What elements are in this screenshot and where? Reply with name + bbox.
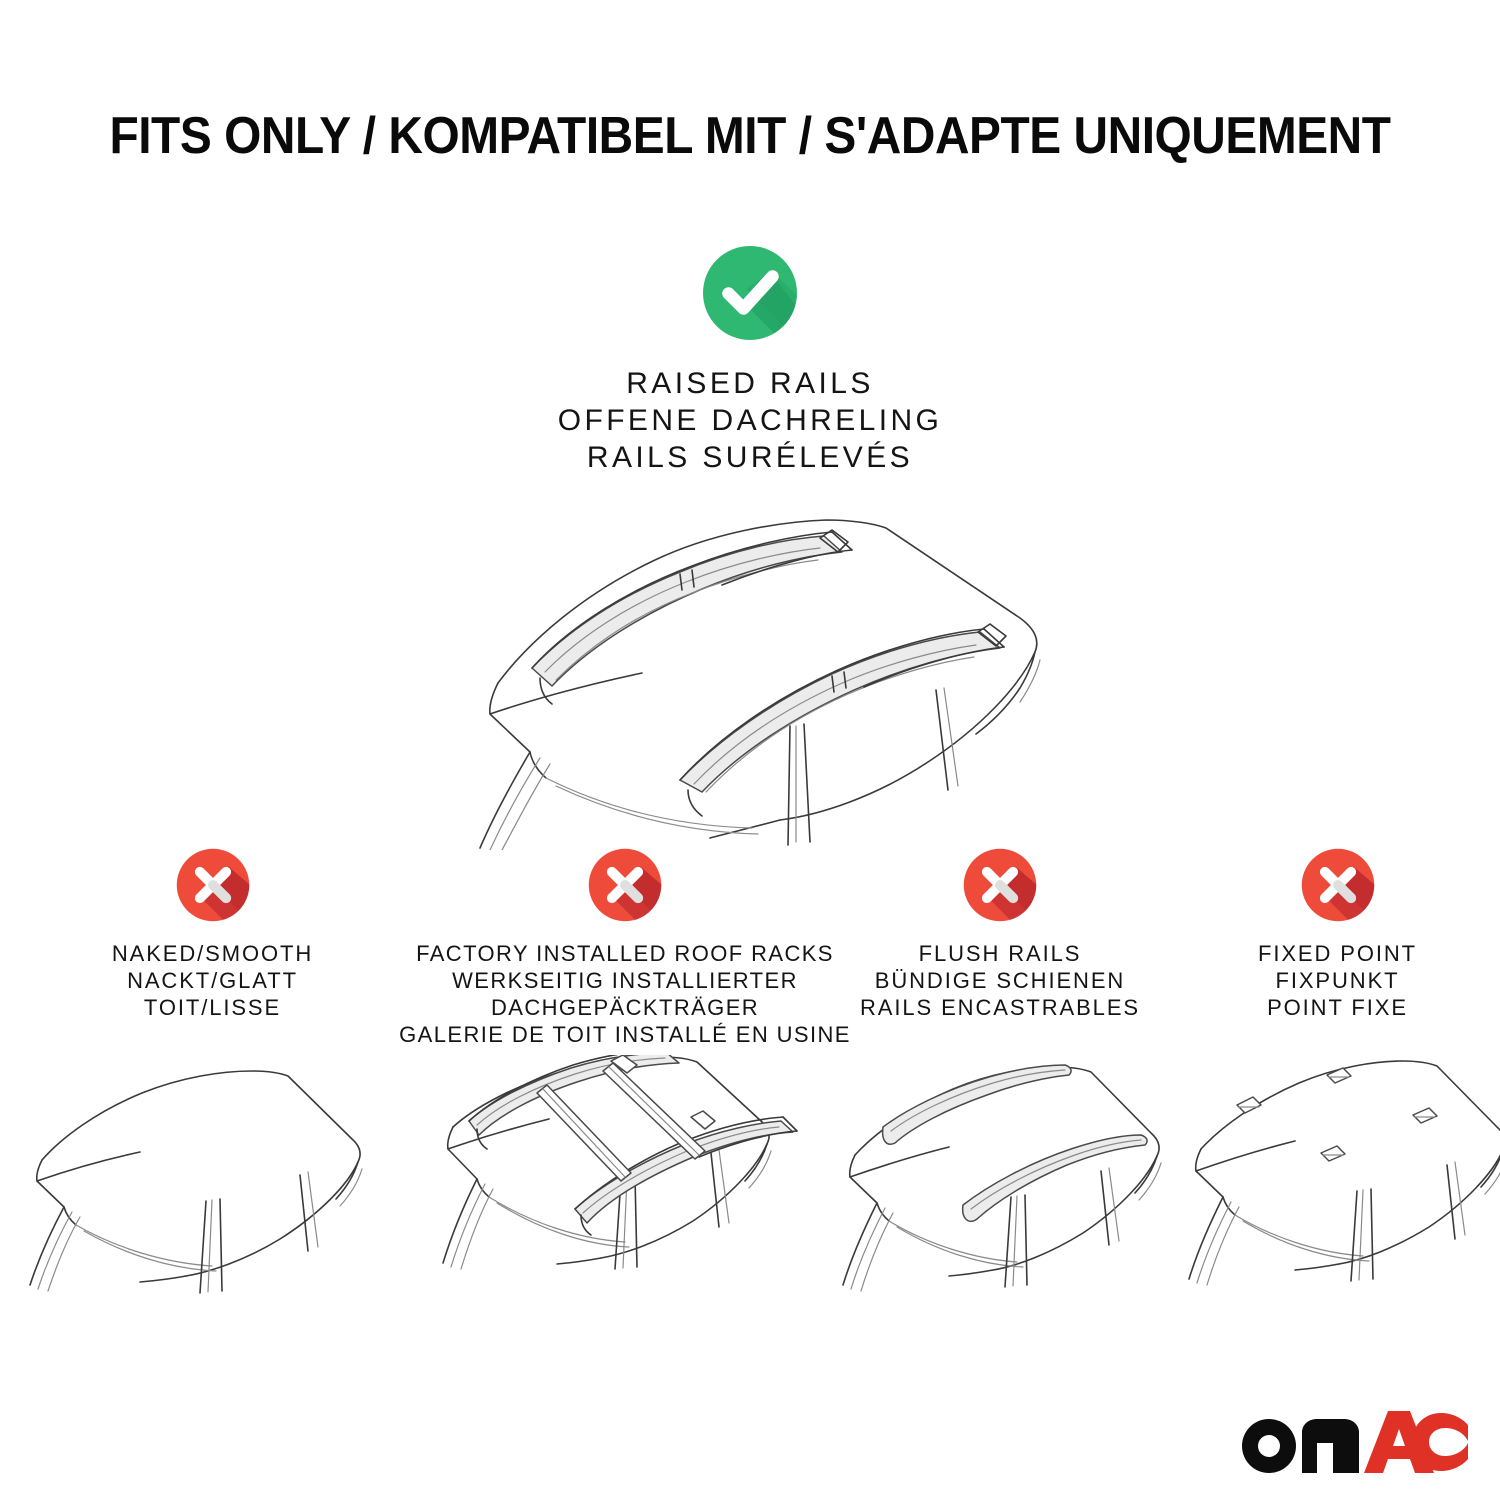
caption-line-en: FIXED POINT <box>1258 940 1417 967</box>
naked-smooth-roof-illustration <box>0 1055 425 1315</box>
caption-line-de: NACKT/GLATT <box>112 967 313 994</box>
fitment-chart-page: FITS ONLY / KOMPATIBEL MIT / S'ADAPTE UN… <box>0 0 1500 1500</box>
logo-letter-o <box>1242 1419 1296 1473</box>
compatible-block: RAISED RAILS OFFENE DACHRELING RAILS SUR… <box>0 245 1500 476</box>
caption-line-fr: GALERIE DE TOIT INSTALLÉ EN USINE <box>399 1021 851 1048</box>
caption-line-en: FACTORY INSTALLED ROOF RACKS <box>399 940 851 967</box>
raised-rails-roof-illustration <box>380 490 1120 850</box>
caption-line-en: NAKED/SMOOTH <box>112 940 313 967</box>
caption-line-de-1: WERKSEITIG INSTALLIERTER <box>399 967 851 994</box>
caption-line-fr: RAILS ENCASTRABLES <box>860 994 1140 1021</box>
incompatible-item-flush-rails: FLUSH RAILS BÜNDIGE SCHIENEN RAILS ENCAS… <box>825 848 1175 1021</box>
roof-illustration-row <box>0 1055 1500 1315</box>
factory-roof-rack-illustration <box>425 1055 825 1315</box>
compatible-line-de: OFFENE DACHRELING <box>558 402 943 439</box>
incompatible-item-factory-racks: FACTORY INSTALLED ROOF RACKS WERKSEITIG … <box>425 848 825 1048</box>
page-title: FITS ONLY / KOMPATIBEL MIT / S'ADAPTE UN… <box>60 110 1440 162</box>
logo-letter-c <box>1412 1413 1468 1471</box>
cross-circle-icon <box>176 848 250 922</box>
incompatible-caption-4: FIXED POINT FIXPUNKT POINT FIXE <box>1258 940 1417 1021</box>
compatible-line-en: RAISED RAILS <box>558 365 943 402</box>
cross-circle-icon <box>1301 848 1375 922</box>
incompatible-caption-1: NAKED/SMOOTH NACKT/GLATT TOIT/LISSE <box>112 940 313 1021</box>
fixed-point-roof-illustration <box>1175 1055 1500 1315</box>
caption-line-de: FIXPUNKT <box>1258 967 1417 994</box>
caption-line-en: FLUSH RAILS <box>860 940 1140 967</box>
incompatible-item-fixed-point: FIXED POINT FIXPUNKT POINT FIXE <box>1175 848 1500 1021</box>
incompatible-row: NAKED/SMOOTH NACKT/GLATT TOIT/LISSE <box>0 848 1500 1048</box>
incompatible-caption-3: FLUSH RAILS BÜNDIGE SCHIENEN RAILS ENCAS… <box>860 940 1140 1021</box>
omac-logo <box>1236 1409 1468 1475</box>
caption-line-fr: POINT FIXE <box>1258 994 1417 1021</box>
compatible-line-fr: RAILS SURÉLEVÉS <box>558 439 943 476</box>
compatible-caption: RAISED RAILS OFFENE DACHRELING RAILS SUR… <box>558 365 943 476</box>
cross-circle-icon <box>588 848 662 922</box>
caption-line-de: BÜNDIGE SCHIENEN <box>860 967 1140 994</box>
cross-circle-icon <box>963 848 1037 922</box>
caption-line-de-2: DACHGEPÄCKTRÄGER <box>399 994 851 1021</box>
flush-rails-roof-illustration <box>825 1055 1175 1315</box>
caption-line-fr: TOIT/LISSE <box>112 994 313 1021</box>
logo-letter-m <box>1302 1419 1359 1473</box>
incompatible-caption-2: FACTORY INSTALLED ROOF RACKS WERKSEITIG … <box>399 940 851 1048</box>
incompatible-item-naked-smooth: NAKED/SMOOTH NACKT/GLATT TOIT/LISSE <box>0 848 425 1021</box>
check-circle-icon <box>702 245 798 341</box>
